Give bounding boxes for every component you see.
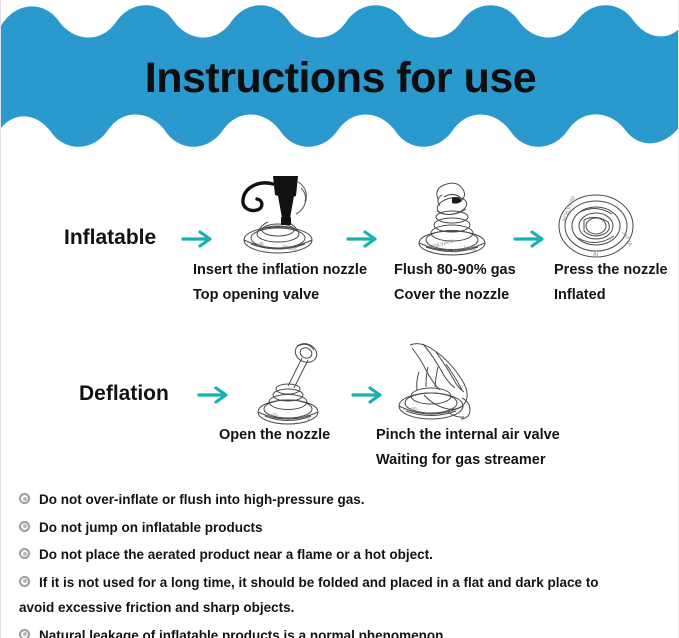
note-text: If it is not used for a long time, it sh… — [39, 575, 599, 590]
note-text: Natural leakage of inflatable products i… — [39, 628, 447, 638]
step-caption-line2: Inflated — [554, 283, 606, 308]
step-caption-line1: Press the nozzle — [554, 258, 668, 283]
note-item: Do not jump on inflatable products — [19, 515, 669, 541]
bullet-circle-icon — [19, 493, 30, 504]
header-banner: Instructions for use — [1, 0, 679, 156]
bullet-circle-icon — [19, 629, 30, 638]
svg-text:NOILVIHNI: NOILVIHNI — [561, 195, 577, 223]
arrow-right-icon — [351, 384, 385, 406]
valve-capped-illustration: NOILVIANI AI JATVA — [404, 175, 500, 268]
note-text-continuation: avoid excessive friction and sharp objec… — [19, 595, 669, 621]
valve-pressed-top-view-illustration: NOILVIHNI AI JATVA — [550, 190, 642, 267]
note-item: If it is not used for a long time, it sh… — [19, 570, 669, 621]
step-caption-line1: Pinch the internal air valve — [376, 423, 560, 448]
inflation-nozzle-inserted-illustration: AIR VALVE — [226, 168, 331, 265]
note-text: Do not jump on inflatable products — [39, 520, 263, 535]
row-label-deflation: Deflation — [79, 382, 169, 406]
bullet-circle-icon — [19, 521, 30, 532]
notes-list: Do not over-inflate or flush into high-p… — [19, 487, 669, 638]
svg-text:AI: AI — [452, 249, 457, 255]
step-caption-line1: Flush 80-90% gas — [394, 258, 516, 283]
instructions-page: Instructions for use Inflatable — [0, 0, 679, 638]
arrow-right-icon — [513, 228, 547, 250]
note-text: Do not place the aerated product near a … — [39, 547, 433, 562]
arrow-right-icon — [346, 228, 380, 250]
note-item: Do not over-inflate or flush into high-p… — [19, 487, 669, 513]
valve-open-cap-illustration: NOIL AI JATV — [244, 336, 336, 435]
step-caption-line1: Open the nozzle — [219, 423, 330, 448]
svg-text:AI: AI — [288, 417, 292, 422]
step-caption-line1: Insert the inflation nozzle — [193, 258, 367, 283]
svg-text:AI: AI — [426, 412, 430, 417]
step-caption-line2: Cover the nozzle — [394, 283, 509, 308]
page-title: Instructions for use — [1, 0, 679, 156]
arrow-right-icon — [197, 384, 231, 406]
step-caption-line2: Waiting for gas streamer — [376, 448, 545, 473]
hand-pinching-valve-illustration: NOIL AI — [386, 340, 496, 435]
note-text: Do not over-inflate or flush into high-p… — [39, 492, 365, 507]
row-label-inflatable: Inflatable — [64, 226, 156, 250]
bullet-circle-icon — [19, 548, 30, 559]
note-item: Do not place the aerated product near a … — [19, 542, 669, 568]
step-caption-line2: Top opening valve — [193, 283, 319, 308]
arrow-right-icon — [181, 228, 215, 250]
note-item: Natural leakage of inflatable products i… — [19, 623, 669, 638]
bullet-circle-icon — [19, 576, 30, 587]
